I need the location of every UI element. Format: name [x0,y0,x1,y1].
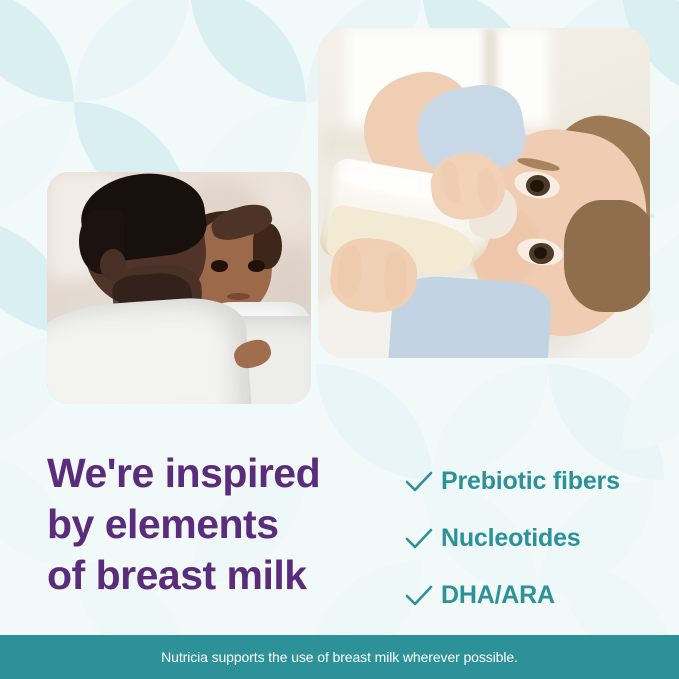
check-icon [404,583,434,609]
father-shirt [47,294,251,404]
photo-father-kissing-baby [47,172,311,404]
baby-hair-strands [564,200,650,312]
marketing-banner: We're inspired by elements of breast mil… [0,0,679,679]
headline-line-2: by elements [47,499,387,550]
benefit-item-nucleotides: Nucleotides [404,512,664,565]
headline-line-3: of breast milk [47,550,387,601]
footer-bar: Nutricia supports the use of breast milk… [0,635,679,679]
headline: We're inspired by elements of breast mil… [47,448,387,601]
check-icon [404,469,434,495]
leaf-icon [74,0,190,102]
baby-eye [248,260,265,272]
photo-baby-drinking-bottle [318,28,650,358]
headline-line-1: We're inspired [47,448,387,499]
footer-disclaimer-text: Nutricia supports the use of breast milk… [161,649,518,665]
check-icon [404,526,434,552]
benefit-label: DHA/ARA [441,581,555,610]
baby-pupil [530,180,543,192]
leaf-icon [190,0,306,102]
benefit-label: Nucleotides [441,524,581,553]
baby-mouth [227,293,251,300]
benefit-label: Prebiotic fibers [441,467,620,496]
benefits-list: Prebiotic fibers Nucleotides DHA/ARA [404,455,664,626]
leaf-icon [0,0,74,102]
baby-eye [211,260,228,272]
benefit-item-prebiotic-fibers: Prebiotic fibers [404,455,664,508]
benefit-item-dha-ara: DHA/ARA [404,569,664,622]
